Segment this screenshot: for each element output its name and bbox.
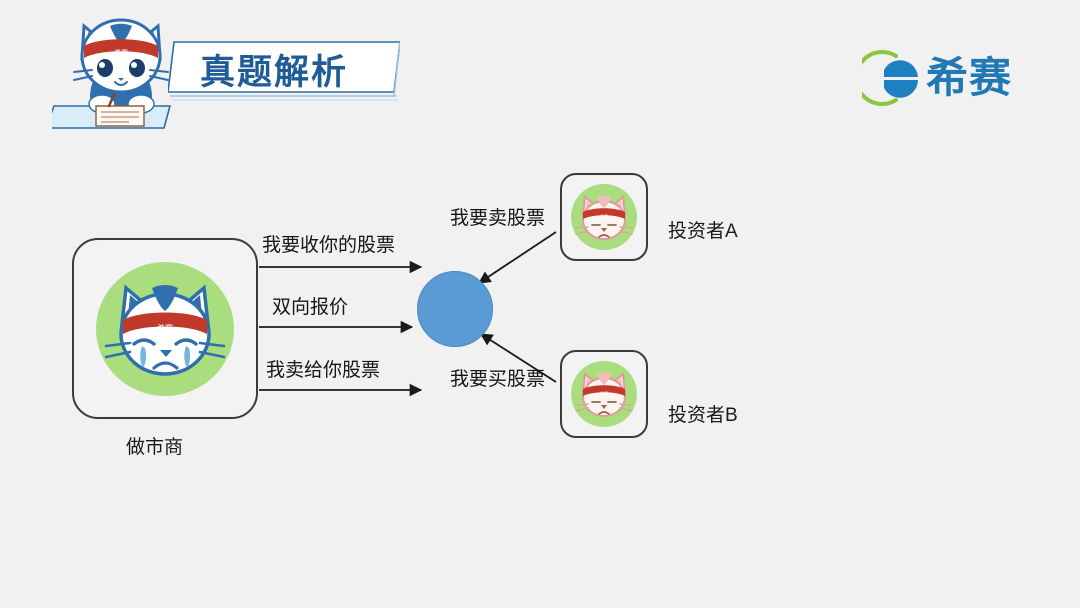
page-title: 真题解析 (200, 48, 390, 96)
svg-text:希赛: 希赛 (600, 213, 608, 219)
investor-a-caption: 投资者A (668, 216, 738, 243)
exchange-hub (417, 271, 493, 347)
flow-label-investor-sell: 我要卖股票 (450, 203, 545, 230)
svg-text:希赛: 希赛 (114, 48, 128, 57)
investor-b-caption: 投资者B (668, 400, 738, 427)
flow-label-collect-stock: 我要收你的股票 (262, 230, 395, 257)
flow-label-sell-stock: 我卖给你股票 (266, 355, 380, 382)
svg-text:希赛: 希赛 (600, 390, 608, 396)
svg-text:希赛: 希赛 (157, 323, 173, 333)
pink-cat-avatar-icon: 希赛 (571, 184, 637, 250)
market-maker-caption: 做市商 (126, 432, 183, 459)
pink-cat-avatar-icon: 希赛 (571, 361, 637, 427)
flow-label-investor-buy: 我要买股票 (450, 364, 545, 391)
flow-label-two-way-quote: 双向报价 (272, 292, 348, 319)
brand-logo: 希赛 (862, 48, 1052, 108)
slide-canvas: 希赛 真题解析 (0, 0, 1080, 608)
crying-blue-cat-avatar-icon: 希赛 (96, 262, 234, 396)
brand-logo-text: 希赛 (926, 50, 1012, 106)
